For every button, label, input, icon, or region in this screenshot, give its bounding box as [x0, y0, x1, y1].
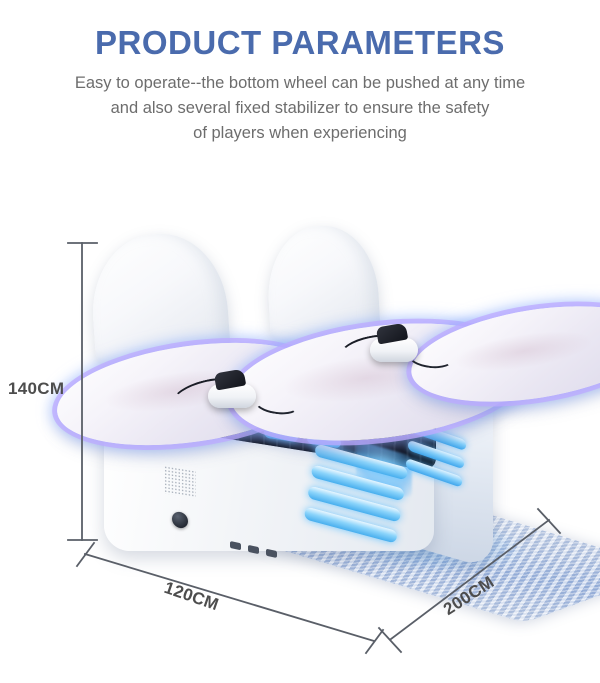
speaker-grille-icon [164, 465, 196, 498]
vr-top-mount-icon [214, 369, 246, 391]
vr-visor-icon [208, 384, 256, 408]
subtitle-line-3: of players when experiencing [0, 121, 600, 146]
product-illustration [78, 218, 578, 668]
product-parameters-page: PRODUCT PARAMETERS Easy to operate--the … [0, 0, 600, 683]
subtitle: Easy to operate--the bottom wheel can be… [0, 71, 600, 146]
pedal-icon [248, 545, 259, 554]
subtitle-line-2: and also several fixed stabilizer to ens… [0, 96, 600, 121]
header: PRODUCT PARAMETERS Easy to operate--the … [0, 22, 600, 146]
vr-top-mount-icon [376, 323, 408, 345]
page-title: PRODUCT PARAMETERS [0, 22, 600, 64]
subtitle-line-1: Easy to operate--the bottom wheel can be… [0, 71, 600, 96]
product-image-stage [0, 200, 600, 683]
pedal-icon [266, 549, 277, 558]
seat-backrest-right [265, 223, 381, 345]
